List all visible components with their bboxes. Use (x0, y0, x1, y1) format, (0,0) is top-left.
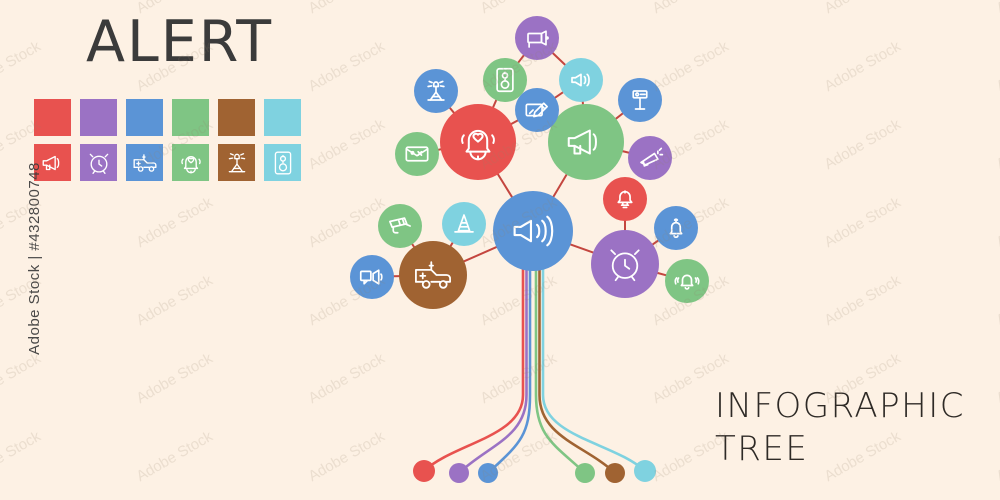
root-red[interactable] (413, 460, 435, 482)
node-megaphone-flag[interactable] (515, 16, 559, 60)
node-circle[interactable] (548, 104, 624, 180)
node-circle[interactable] (493, 191, 573, 271)
branch-n-alarm-clock-to-n-bell-blue (652, 240, 659, 245)
caption-line-1: INFOGRAPHIC (715, 386, 965, 426)
node-circle[interactable] (350, 255, 394, 299)
branch-n-megaphone-big-to-n-traffic-light (615, 113, 623, 119)
root-dots (413, 460, 656, 483)
node-notification-bell[interactable] (654, 206, 698, 250)
node-circle[interactable] (395, 132, 439, 176)
node-siren-tower[interactable] (414, 69, 458, 113)
infographic-canvas: ALERT INFOGRAPHIC TREE Adobe Stock | #43… (0, 0, 1000, 500)
branch-n-speaker-center-to-n-alarm-clock (570, 244, 594, 253)
node-circle[interactable] (442, 202, 486, 246)
branch-n-bell-heart-to-n-speaker-box (493, 99, 497, 108)
caption-line-2: TREE (715, 428, 965, 471)
node-circle[interactable] (665, 259, 709, 303)
node-security-camera[interactable] (378, 204, 422, 248)
node-traffic-cone[interactable] (442, 202, 486, 246)
node-circle[interactable] (515, 16, 559, 60)
branch-n-speaker-center-to-n-megaphone-big (553, 174, 567, 198)
tree-nodes (350, 16, 709, 309)
node-school-bell[interactable] (603, 177, 647, 221)
node-circle[interactable] (399, 241, 467, 309)
infographic-caption: INFOGRAPHIC TREE (715, 385, 965, 470)
node-street-sign[interactable] (618, 78, 662, 122)
node-alarm-clock[interactable] (591, 230, 659, 298)
node-horn-sound[interactable] (559, 58, 603, 102)
node-speaker-announce[interactable] (350, 255, 394, 299)
node-ambulance[interactable] (399, 241, 467, 309)
root-purple[interactable] (449, 463, 469, 483)
node-signature-pen[interactable] (515, 88, 559, 132)
branch-n-speaker-center-to-n-bell-heart (497, 173, 512, 197)
node-megaphone[interactable] (548, 104, 624, 180)
branch-n-bell-heart-to-n-siren-tower (449, 107, 454, 113)
node-mail-alert[interactable] (395, 132, 439, 176)
branch-n-speaker-center-to-n-ambulance (463, 247, 497, 262)
node-bullhorn[interactable] (628, 136, 672, 180)
node-bell-heart[interactable] (440, 104, 516, 180)
trunk-strand-root-purple (459, 241, 527, 473)
branch-n-megaphone-big-to-n-bullhorn-purple (622, 151, 630, 153)
root-brown[interactable] (605, 463, 625, 483)
node-speaker-box[interactable] (483, 58, 527, 102)
branch-n-pen-sign-to-n-horn-cyan (554, 92, 563, 98)
root-green[interactable] (575, 463, 595, 483)
root-cyan[interactable] (634, 460, 656, 482)
node-loudspeaker-waves[interactable] (493, 191, 573, 271)
branch-n-alarm-clock-to-n-bell-green (657, 273, 667, 276)
root-blue[interactable] (478, 463, 498, 483)
node-circle[interactable] (628, 136, 672, 180)
node-circle[interactable] (603, 177, 647, 221)
branch-n-bell-heart-to-n-pen-sign (511, 120, 519, 124)
branch-n-speaker-box-to-n-flag-megaphone (518, 55, 525, 64)
branch-n-flag-megaphone-to-n-horn-cyan (552, 52, 566, 65)
node-ringing-bell[interactable] (665, 259, 709, 303)
node-circle[interactable] (654, 206, 698, 250)
